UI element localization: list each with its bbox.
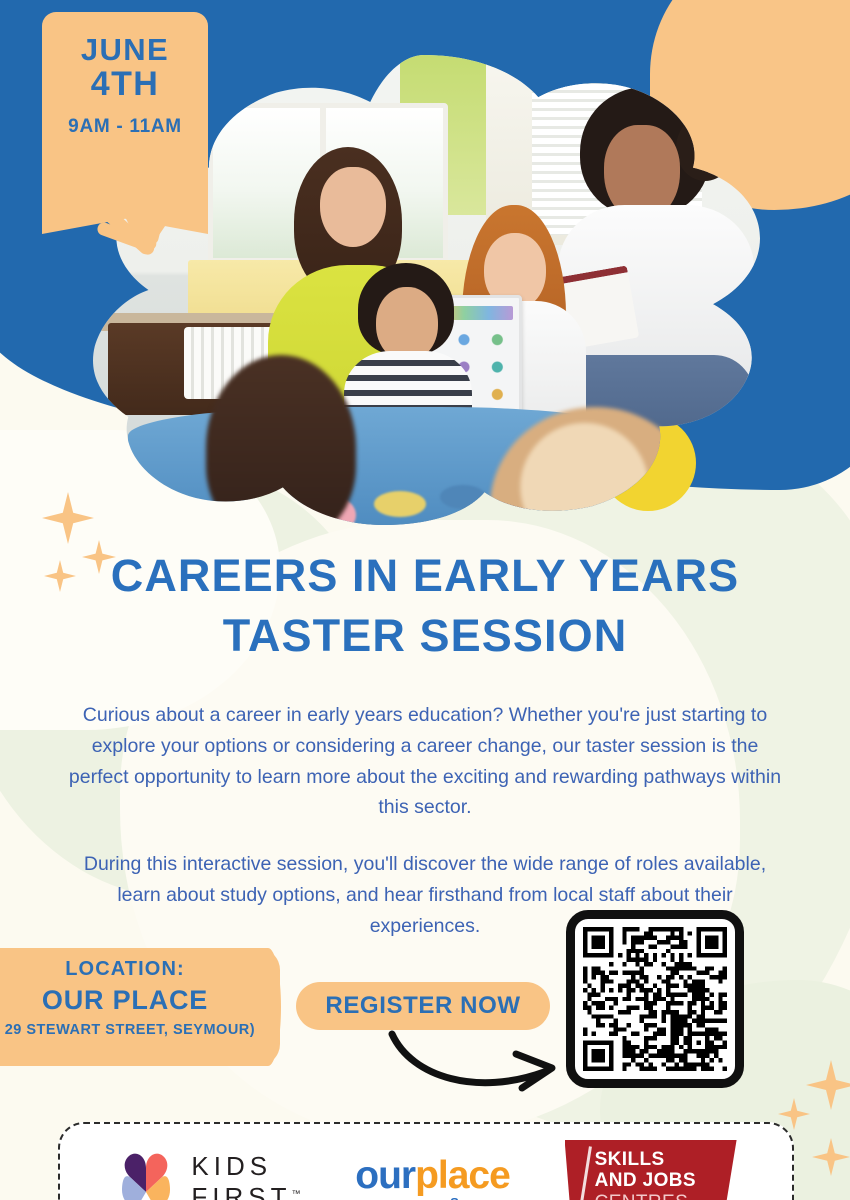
kids-first-line-2: FIRST: [191, 1182, 291, 1200]
qr-code[interactable]: [566, 910, 744, 1088]
event-poster: JUNE 4TH 9AM - 11AM CAREERS IN EARLY YEA…: [0, 0, 850, 1200]
body-paragraph-1: Curious about a career in early years ed…: [62, 700, 788, 823]
skills-and-jobs-centres-logo: SKILLS AND JOBS CENTRES: [565, 1140, 737, 1200]
ourplace-logo: ourplace Seymour: [355, 1156, 510, 1200]
date-time: 9AM - 11AM: [42, 116, 208, 138]
kids-first-line-2-wrap: FIRST™: [191, 1182, 300, 1200]
kids-first-logo: KIDS FIRST™: [115, 1148, 300, 1200]
skills-slash-decoration: [577, 1146, 592, 1200]
footer-logo-card: KIDS FIRST™ ourplace Seymour SKILLS AND …: [58, 1122, 794, 1200]
kids-first-trademark: ™: [291, 1188, 300, 1198]
date-month: JUNE: [42, 34, 208, 66]
headline-line-1: CAREERS IN EARLY YEARS: [111, 550, 740, 601]
kids-first-line-1: KIDS: [191, 1151, 300, 1182]
body-copy: Curious about a career in early years ed…: [62, 700, 788, 942]
location-label: LOCATION:: [0, 958, 280, 981]
date-banner: JUNE 4TH 9AM - 11AM: [42, 12, 208, 200]
date-day: 4TH: [42, 66, 208, 103]
register-now-button[interactable]: REGISTER NOW: [296, 982, 550, 1030]
kids-first-heart-icon: [115, 1148, 177, 1200]
kids-first-wordmark: KIDS FIRST™: [191, 1151, 300, 1200]
page-title: CAREERS IN EARLY YEARS TASTER SESSION: [0, 546, 850, 667]
ourplace-wordmark: ourplace: [355, 1156, 510, 1195]
location-name: OUR PLACE: [0, 985, 280, 1016]
skills-line-1: SKILLS: [595, 1149, 727, 1170]
ourplace-place: place: [415, 1154, 510, 1197]
skills-line-2: AND JOBS: [595, 1170, 727, 1191]
curved-arrow-icon: [386, 1028, 564, 1100]
headline-line-2: TASTER SESSION: [0, 606, 850, 666]
skills-line-3: CENTRES: [595, 1192, 727, 1200]
location-banner: LOCATION: OUR PLACE ( 29 STEWART STREET,…: [0, 948, 280, 1066]
location-address: ( 29 STEWART STREET, SEYMOUR): [0, 1022, 280, 1038]
qr-code-canvas: [583, 927, 727, 1071]
ourplace-our: our: [355, 1154, 415, 1197]
